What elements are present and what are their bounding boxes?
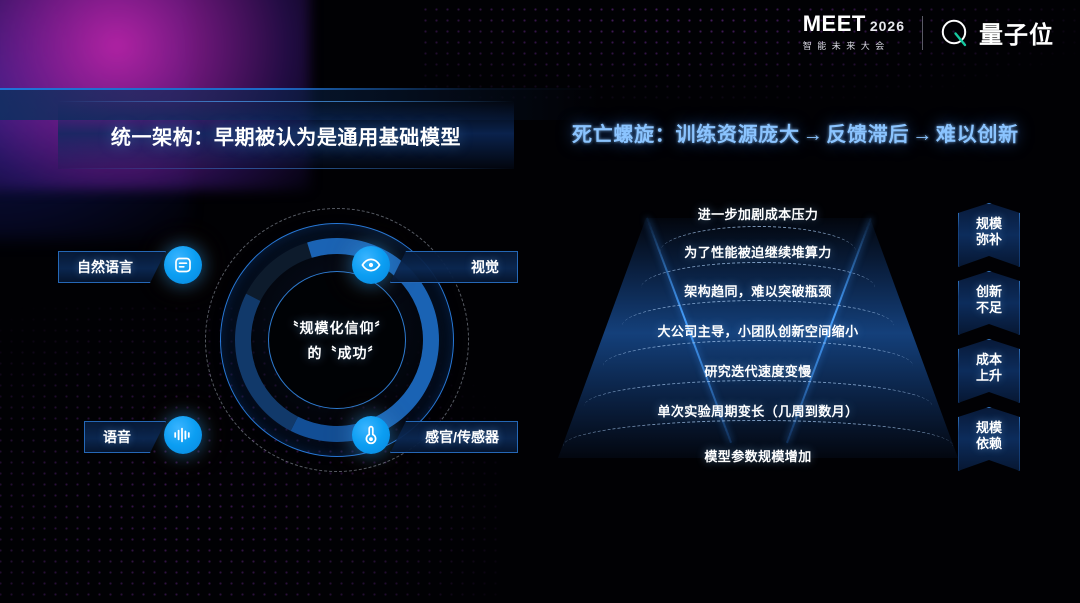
- badge-scale-dependence-line-2: 依赖: [976, 436, 1002, 452]
- badge-cost-rise[interactable]: 成本 上升: [958, 339, 1020, 403]
- node-natural-language[interactable]: [164, 246, 202, 284]
- label-speech[interactable]: 语音: [84, 421, 166, 453]
- badge-innovation-deficit-line-1: 创新: [976, 284, 1002, 300]
- badge-cost-rise-line-1: 成本: [976, 352, 1002, 368]
- left-section-title: 统一架构：早期被认为是通用基础模型: [111, 121, 461, 150]
- funnel-row-1: 进一步加剧成本压力: [558, 204, 958, 223]
- badge-scale-dependence-line-1: 规模: [976, 420, 1002, 436]
- consequence-badge-list: 规模 弥补 创新 不足 成本 上升 规模 依赖: [958, 203, 1020, 475]
- funnel-row-4: 大公司主导，小团队创新空间缩小: [558, 321, 958, 340]
- right-title-arrow-1-icon: →: [800, 124, 827, 146]
- funnel-row-3: 架构趋同，难以突破瓶颈: [558, 281, 958, 300]
- funnel-row-5: 研究迭代速度变慢: [558, 361, 958, 380]
- right-title-arrow-2-icon: →: [909, 124, 936, 146]
- unified-architecture-diagram: 〝规模化信仰〞 的〝成功〞: [58, 190, 518, 490]
- header-divider-line: [0, 88, 600, 90]
- qbit-q-logo-icon: [940, 18, 970, 48]
- right-title-step-3: 难以创新: [936, 124, 1019, 146]
- badge-scale-compensation-line-1: 规模: [976, 216, 1002, 232]
- audio-waveform-icon: [172, 425, 194, 445]
- left-section-title-banner: 统一架构：早期被认为是通用基础模型: [58, 101, 514, 169]
- badge-cost-rise-line-2: 上升: [976, 368, 1002, 384]
- core-label-line-2: 的〝成功〞: [292, 343, 383, 363]
- meet-logo-year: 2026: [870, 19, 905, 33]
- funnel-row-7: 模型参数规模增加: [558, 446, 958, 465]
- right-title-step-2: 反馈滞后: [826, 124, 909, 146]
- node-vision[interactable]: [352, 246, 390, 284]
- badge-innovation-deficit[interactable]: 创新 不足: [958, 271, 1020, 335]
- label-speech-text: 语音: [103, 427, 131, 447]
- meet-logo-subtitle: 智能未来大会: [803, 39, 905, 52]
- meet-conference-logo: MEET 2026 智能未来大会: [803, 13, 905, 52]
- right-title-prefix: 死亡螺旋：: [572, 124, 676, 146]
- funnel-row-2: 为了性能被迫继续堆算力: [558, 242, 958, 261]
- badge-scale-dependence[interactable]: 规模 依赖: [958, 407, 1020, 471]
- diagram-core-label: 〝规模化信仰〞 的〝成功〞: [268, 271, 406, 409]
- meet-logo-text: MEET: [803, 13, 866, 35]
- qbit-brand-name: 量子位: [979, 15, 1054, 50]
- document-text-icon: [173, 255, 193, 275]
- node-sensor[interactable]: [352, 416, 390, 454]
- node-speech[interactable]: [164, 416, 202, 454]
- label-sensor[interactable]: 感官/传感器: [390, 421, 518, 453]
- label-natural-language[interactable]: 自然语言: [58, 251, 166, 283]
- badge-innovation-deficit-line-2: 不足: [976, 300, 1002, 316]
- background-dot-grid-top: [420, 0, 1080, 102]
- label-vision-text: 视觉: [471, 257, 499, 277]
- thermometer-sensor-icon: [361, 424, 381, 446]
- funnel-row-6: 单次实验周期变长（几周到数月）: [558, 401, 958, 420]
- label-vision[interactable]: 视觉: [390, 251, 518, 283]
- core-label-line-1: 〝规模化信仰〞: [285, 318, 390, 338]
- label-sensor-text: 感官/传感器: [425, 427, 499, 447]
- right-title-step-1: 训练资源庞大: [676, 124, 800, 146]
- badge-scale-compensation[interactable]: 规模 弥补: [958, 203, 1020, 267]
- right-section-title: 死亡螺旋：训练资源庞大→反馈滞后→难以创新: [572, 118, 1019, 147]
- slide-canvas: MEET 2026 智能未来大会 量子位 统一架构：早期被认为是通用基础模型 死…: [0, 0, 1080, 603]
- eye-icon: [360, 255, 382, 275]
- header-logo-separator: [922, 16, 923, 50]
- death-spiral-funnel: 进一步加剧成本压力 为了性能被迫继续堆算力 架构趋同，难以突破瓶颈 大公司主导，…: [558, 190, 958, 490]
- badge-scale-compensation-line-2: 弥补: [976, 232, 1002, 248]
- qbit-brand-logo: 量子位: [940, 15, 1054, 50]
- header-logos: MEET 2026 智能未来大会 量子位: [803, 13, 1054, 52]
- label-natural-language-text: 自然语言: [77, 257, 133, 277]
